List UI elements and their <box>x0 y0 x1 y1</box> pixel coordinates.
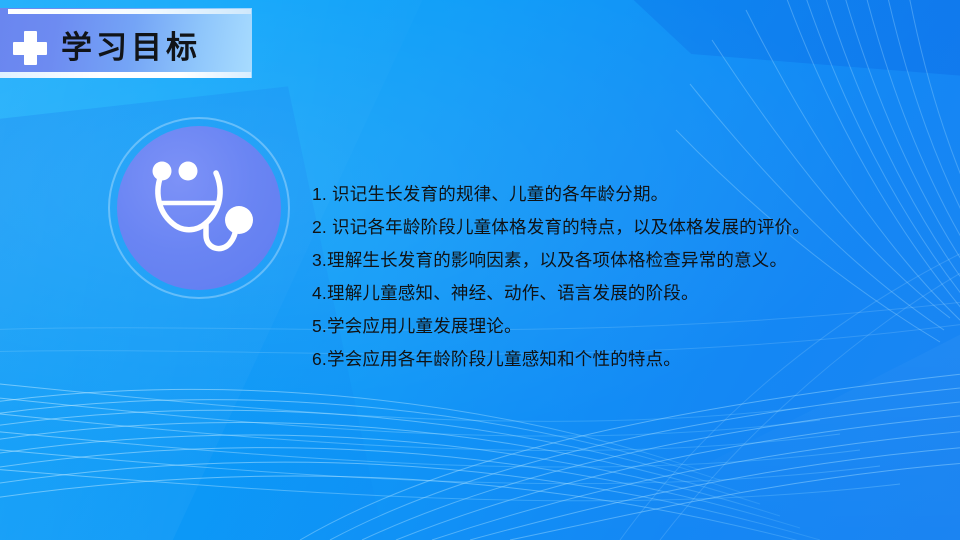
objective-item: 3.理解生长发育的影响因素，以及各项体格检查异常的意义。 <box>312 244 932 277</box>
banner-top-rule <box>8 9 251 14</box>
stethoscope-icon <box>138 145 262 269</box>
objective-item: 1. 识记生长发育的规律、儿童的各年龄分期。 <box>312 178 932 211</box>
objective-item: 2. 识记各年龄阶段儿童体格发育的特点，以及体格发展的评价。 <box>312 211 932 244</box>
banner-bottom-rule <box>0 72 251 78</box>
stethoscope-badge <box>108 117 290 299</box>
medical-cross-icon <box>13 31 47 65</box>
slide-canvas: 学习目标 1. 识记生长发育的规律、儿童的各年龄分期。 2. 识记各年龄阶段儿童… <box>0 0 960 540</box>
objective-item: 4.理解儿童感知、神经、动作、语言发展的阶段。 <box>312 277 932 310</box>
objective-item: 6.学会应用各年龄阶段儿童感知和个性的特点。 <box>312 343 932 376</box>
title-banner: 学习目标 <box>0 0 252 80</box>
objective-item: 5.学会应用儿童发展理论。 <box>312 310 932 343</box>
page-title: 学习目标 <box>61 27 241 69</box>
learning-objectives-list: 1. 识记生长发育的规律、儿童的各年龄分期。 2. 识记各年龄阶段儿童体格发育的… <box>312 178 932 376</box>
